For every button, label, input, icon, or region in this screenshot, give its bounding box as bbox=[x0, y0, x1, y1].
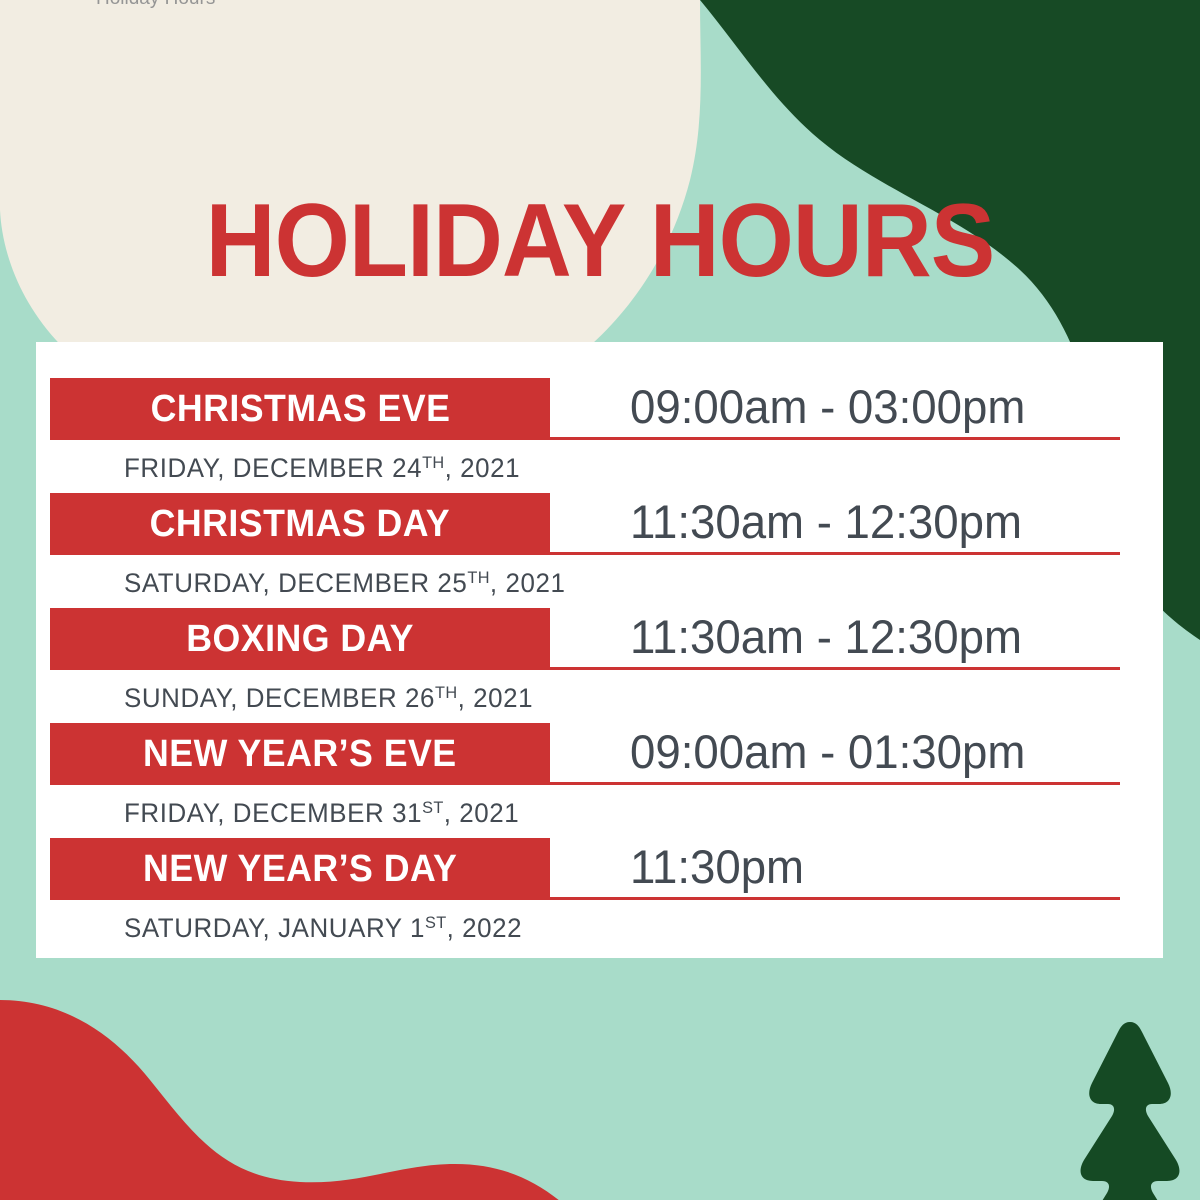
holiday-date: SUNDAY, DECEMBER 26TH, 2021 bbox=[124, 676, 533, 715]
schedule-row: NEW YEAR’S DAY 11:30pm SATURDAY, JANUARY… bbox=[36, 838, 1163, 953]
holiday-name-band: BOXING DAY bbox=[50, 608, 550, 670]
red-wave-shape bbox=[0, 1000, 1200, 1200]
date-main: SATURDAY, DECEMBER 25 bbox=[124, 568, 467, 598]
holiday-hours: 11:30am - 12:30pm bbox=[630, 491, 1022, 553]
date-year: , 2021 bbox=[444, 798, 520, 828]
holiday-hours: 11:30pm bbox=[630, 836, 804, 898]
christmas-tree-icon bbox=[1072, 1022, 1188, 1200]
page-title: HOLIDAY HOURS bbox=[42, 186, 1158, 296]
holiday-hours: 09:00am - 03:00pm bbox=[630, 376, 1025, 438]
holiday-name-band: NEW YEAR’S EVE bbox=[50, 723, 550, 785]
holiday-hours-poster: Holiday Hours HOLIDAY HOURS CHRISTMAS EV… bbox=[0, 0, 1200, 1200]
schedule-row: CHRISTMAS EVE 09:00am - 03:00pm FRIDAY, … bbox=[36, 378, 1163, 493]
holiday-name-band: CHRISTMAS EVE bbox=[50, 378, 550, 440]
holiday-name: CHRISTMAS DAY bbox=[150, 504, 451, 544]
schedule-card: CHRISTMAS EVE 09:00am - 03:00pm FRIDAY, … bbox=[36, 342, 1163, 958]
schedule-row: CHRISTMAS DAY 11:30am - 12:30pm SATURDAY… bbox=[36, 493, 1163, 608]
date-year: , 2021 bbox=[445, 453, 521, 483]
holiday-name: BOXING DAY bbox=[186, 619, 414, 659]
date-main: FRIDAY, DECEMBER 31 bbox=[124, 798, 422, 828]
holiday-date: FRIDAY, DECEMBER 24TH, 2021 bbox=[124, 446, 520, 485]
holiday-date: FRIDAY, DECEMBER 31ST, 2021 bbox=[124, 791, 519, 830]
date-year: , 2021 bbox=[490, 568, 566, 598]
schedule-row: BOXING DAY 11:30am - 12:30pm SUNDAY, DEC… bbox=[36, 608, 1163, 723]
date-ordinal-suffix: TH bbox=[467, 568, 490, 587]
holiday-name: NEW YEAR’S EVE bbox=[143, 734, 457, 774]
date-ordinal-suffix: TH bbox=[435, 683, 458, 702]
holiday-hours: 11:30am - 12:30pm bbox=[630, 606, 1022, 668]
holiday-name-band: NEW YEAR’S DAY bbox=[50, 838, 550, 900]
holiday-name: NEW YEAR’S DAY bbox=[143, 849, 457, 889]
date-ordinal-suffix: ST bbox=[425, 913, 447, 932]
date-ordinal-suffix: ST bbox=[422, 798, 444, 817]
date-main: SATURDAY, JANUARY 1 bbox=[124, 913, 425, 943]
date-main: FRIDAY, DECEMBER 24 bbox=[124, 453, 422, 483]
holiday-hours: 09:00am - 01:30pm bbox=[630, 721, 1025, 783]
holiday-name-band: CHRISTMAS DAY bbox=[50, 493, 550, 555]
date-year: , 2021 bbox=[458, 683, 534, 713]
date-ordinal-suffix: TH bbox=[422, 453, 445, 472]
holiday-date: SATURDAY, JANUARY 1ST, 2022 bbox=[124, 906, 522, 945]
holiday-name: CHRISTMAS EVE bbox=[150, 389, 450, 429]
schedule-row: NEW YEAR’S EVE 09:00am - 01:30pm FRIDAY,… bbox=[36, 723, 1163, 838]
date-year: , 2022 bbox=[447, 913, 523, 943]
clipped-top-text: Holiday Hours bbox=[96, 0, 215, 9]
date-main: SUNDAY, DECEMBER 26 bbox=[124, 683, 435, 713]
holiday-date: SATURDAY, DECEMBER 25TH, 2021 bbox=[124, 561, 565, 600]
